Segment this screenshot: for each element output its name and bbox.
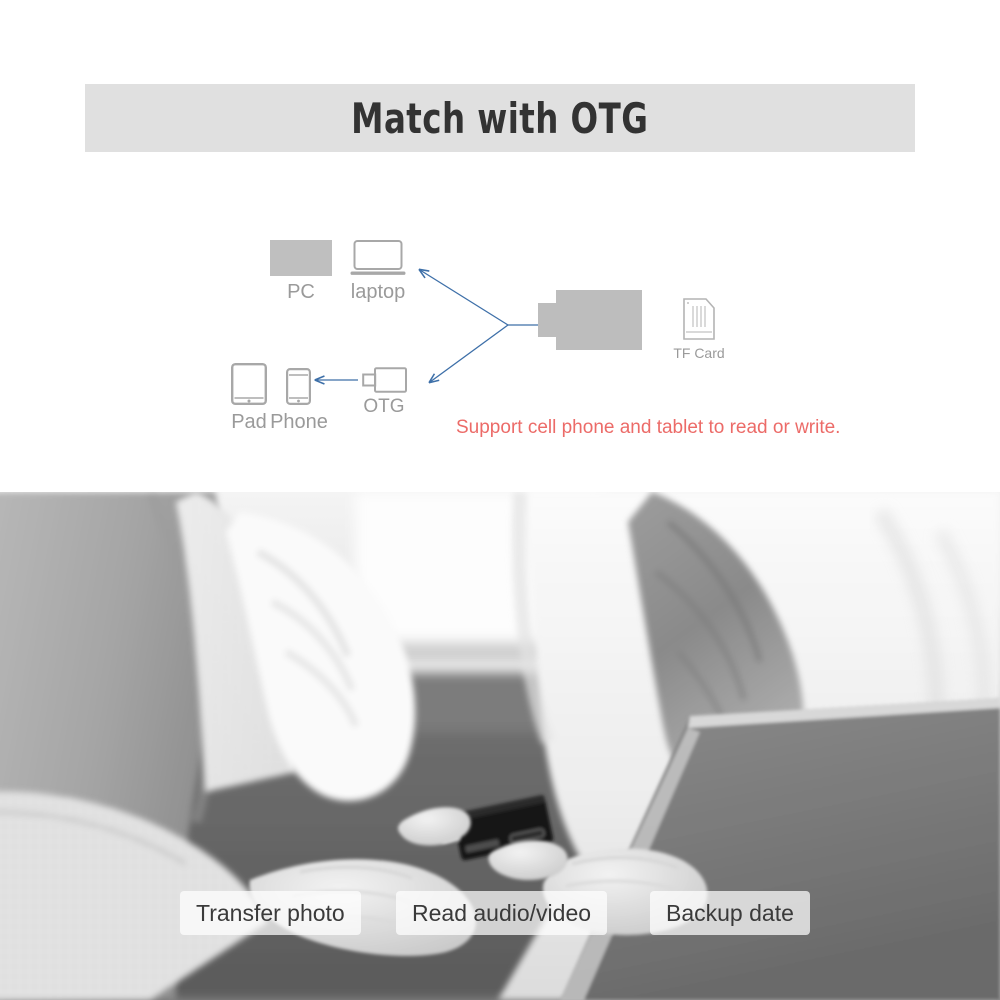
tablet-icon xyxy=(231,363,267,405)
connector-to-otg xyxy=(430,325,508,382)
compatibility-diagram: PC laptop Pad Phone OTG TF Car xyxy=(0,185,1000,485)
device-label-laptop: laptop xyxy=(340,281,416,304)
page-title: Match with OTG xyxy=(351,94,648,143)
caption-chip-transfer-photo: Transfer photo xyxy=(180,891,361,935)
caption-row: Transfer photo Read audio/video Backup d… xyxy=(0,891,1000,951)
caption-chip-read-audio-video: Read audio/video xyxy=(396,891,607,935)
caption-chip-backup-date: Backup date xyxy=(650,891,810,935)
otg-adapter-icon xyxy=(362,367,407,393)
phone-icon xyxy=(286,368,311,405)
microsd-card-icon xyxy=(682,297,716,341)
device-label-phone: Phone xyxy=(268,411,330,434)
device-label-pad: Pad xyxy=(224,411,274,434)
connector-to-laptop xyxy=(420,270,508,325)
support-note: Support cell phone and tablet to read or… xyxy=(456,417,840,439)
device-label-pc: PC xyxy=(270,281,332,304)
device-label-tfcard: TF Card xyxy=(666,345,732,361)
laptop-icon xyxy=(350,240,406,277)
monitor-icon xyxy=(270,240,332,276)
device-label-otg: OTG xyxy=(358,396,410,418)
title-banner: Match with OTG xyxy=(85,84,915,152)
card-reader-icon xyxy=(538,290,642,350)
lifestyle-photo: 0 xyxy=(0,492,1000,1000)
diagram-connectors xyxy=(0,185,1000,485)
